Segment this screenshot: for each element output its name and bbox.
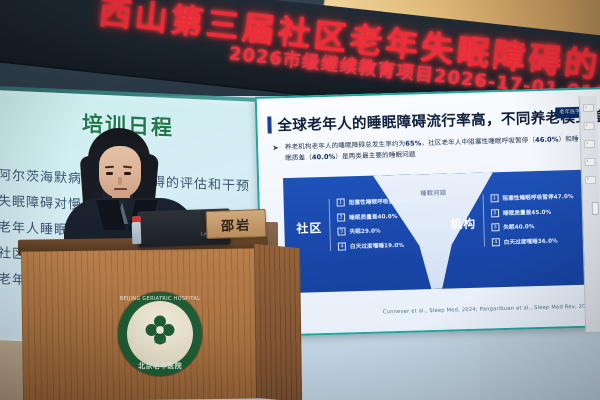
nose [118, 177, 122, 185]
bullet-body: 养老机构老年人的睡眠障碍总发生率约为65%，社区老年人中阻塞性睡眠呼吸暂停（46… [285, 134, 585, 164]
column-list: 1 阻塞性睡眠呼吸暂停46.0% 2 睡眠质量差40.0% 3 失眠29.0% [329, 196, 422, 250]
item-label: 睡眠质量差45.0% [503, 207, 552, 216]
item-label: 失眠29.0% [349, 226, 381, 235]
item-label: 阻塞性睡眠呼吸暂停47.0% [502, 192, 573, 202]
title-accent-bar [267, 116, 271, 133]
list-item: 3 失眠29.0% [337, 225, 420, 235]
speaker-nameplate: 邵岩 [206, 209, 267, 239]
emblem-year: 1949 [127, 339, 193, 345]
bullet-seg-2: ，社区老年人中阻塞性睡眠呼吸暂停（ [421, 136, 535, 147]
speaker-name: 邵岩 [221, 214, 252, 234]
list-item: 1 阻塞性睡眠呼吸暂停47.0% [490, 192, 573, 202]
column-heading: 机构 [450, 215, 476, 233]
list-item: 4 白天过度嗜睡36.0% [492, 236, 575, 246]
column-list: 1 阻塞性睡眠呼吸暂停47.0% 2 睡眠质量差45.0% 3 失眠40.0% [482, 192, 575, 246]
bullet-seg-1: 养老机构老年人的睡眠障碍总发生率约为 [285, 140, 406, 151]
funnel-label: 睡眠问题 [420, 188, 446, 198]
item-label: 白天过度嗜睡36.0% [504, 236, 558, 246]
slide-thumbnail[interactable]: 2 [583, 122, 594, 130]
bullet-stat-2: 46.0% [535, 135, 559, 144]
list-item: 1 阻塞性睡眠呼吸暂停46.0% [337, 196, 420, 206]
column-heading: 社区 [296, 219, 322, 237]
item-number: 1 [490, 194, 498, 202]
item-number: 3 [491, 223, 499, 231]
main-projection-screen: 全球老年人的睡眠障碍流行率高，不同养老模式差异显著 老年医学研究 ➤ 养老机构老… [255, 87, 600, 337]
chart-column-community: 社区 1 阻塞性睡眠呼吸暂停46.0% 2 睡眠质量差40.0% 3 失眠29. [296, 196, 422, 251]
hospital-emblem: 1949 BEIJING GERIATRIC HOSPITAL 北京老年医院 [118, 292, 202, 376]
bullet-stat-3: 40.0% [312, 153, 336, 162]
slide-title-bar: 全球老年人的睡眠障碍流行率高，不同养老模式差异显著 [267, 104, 593, 135]
list-item: 2 睡眠质量差45.0% [491, 207, 574, 217]
list-item: 2 睡眠质量差40.0% [337, 211, 420, 221]
emblem-ring-text-cn: 北京老年医院 [118, 361, 202, 371]
slide-thumbnail[interactable]: 4 [584, 158, 595, 166]
emblem-ring: 1949 BEIJING GERIATRIC HOSPITAL 北京老年医院 [118, 292, 202, 376]
eye-left [106, 172, 113, 175]
eyebrow-left [105, 166, 114, 169]
water-bottle [132, 222, 142, 244]
podium-side-panel [254, 244, 302, 400]
item-number: 1 [337, 198, 345, 206]
slide-thumbnail[interactable]: 5 [585, 176, 596, 184]
bullet-seg-4: ）是两类最主要的睡眠问题 [335, 150, 416, 160]
item-label: 失眠40.0% [503, 222, 535, 231]
item-number: 4 [492, 238, 500, 246]
item-number: 2 [337, 213, 345, 221]
slide-thumbnail[interactable]: 3 [584, 140, 595, 148]
bullet-stat-1: 65% [405, 139, 421, 147]
presentation-slide: 全球老年人的睡眠障碍流行率高，不同养老模式差异显著 老年医学研究 ➤ 养老机构老… [257, 89, 600, 335]
bullet-arrow-icon: ➤ [272, 142, 279, 153]
list-item: 4 白天过度嗜睡19.0% [338, 240, 421, 250]
item-label: 阻塞性睡眠呼吸暂停46.0% [349, 196, 420, 206]
conference-photo-scene: 西山第三届社区老年失眠障碍的评估 2026市级继续教育项目2026-17-01-… [0, 0, 600, 400]
sleep-problem-chart: 睡眠问题 社区 1 阻塞性睡眠呼吸暂停46.0% 2 睡眠质量差40.0% [283, 170, 586, 293]
emblem-inner-disc: 1949 [127, 301, 193, 367]
item-number: 4 [338, 242, 346, 250]
chart-column-institution: 机构 1 阻塞性睡眠呼吸暂停47.0% 2 睡眠质量差45.0% 3 失眠40. [449, 192, 575, 247]
emblem-ring-text-en: BEIJING GERIATRIC HOSPITAL [118, 296, 202, 302]
eyebrow-right [123, 166, 132, 169]
item-label: 睡眠质量差40.0% [349, 211, 398, 220]
slide-bullet: ➤ 养老机构老年人的睡眠障碍总发生率约为65%，社区老年人中阻塞性睡眠呼吸暂停（… [272, 134, 584, 164]
scrollbar-thumb[interactable] [591, 202, 598, 215]
item-number: 3 [337, 227, 345, 235]
slide-thumbnail[interactable]: 1 [583, 104, 594, 112]
item-label: 白天过度嗜睡19.0% [350, 240, 404, 250]
item-number: 2 [491, 209, 499, 217]
slide-title: 全球老年人的睡眠障碍流行率高，不同养老模式差异显著 [277, 103, 600, 134]
slide-citation: Cunnever et al., Sleep Med, 2024; Pangar… [263, 304, 593, 319]
eye-right [124, 172, 131, 175]
list-item: 3 失眠40.0% [491, 221, 574, 231]
